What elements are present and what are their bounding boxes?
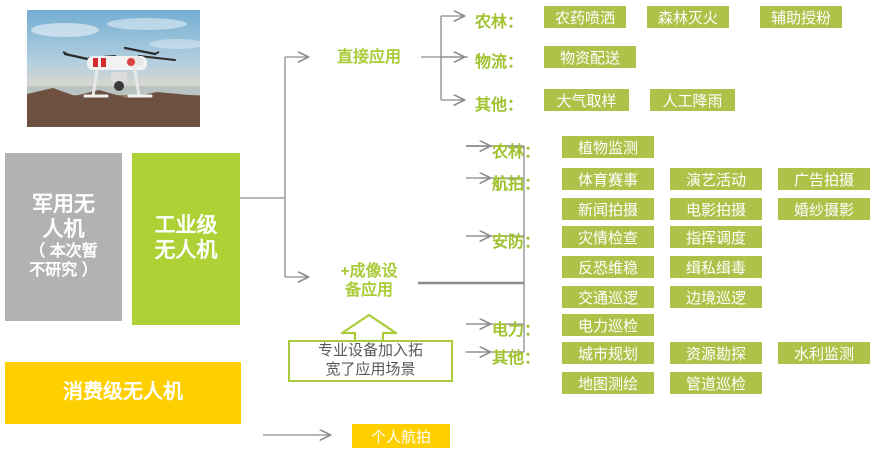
tag-imaging-4-0[interactable]: 城市规划	[562, 342, 654, 364]
callout-box: 专业设备加入拓 宽了应用场景	[288, 340, 453, 382]
cat-label-direct-1: 物流：	[475, 48, 523, 72]
tag-imaging-1-2[interactable]: 广告拍摄	[778, 168, 870, 190]
tag-imaging-4-2[interactable]: 水利监测	[778, 342, 870, 364]
diagram-canvas: 军用无 人机 （ 本次暂 不研究 ） 工业级 无人机 消费级无人机 直接应用 +…	[0, 0, 888, 461]
box-military-note2: 不研究 ）	[29, 262, 97, 281]
node-direct-label: 直接应用	[337, 49, 401, 66]
box-military-line1: 军用无	[32, 193, 95, 216]
node-imaging-application[interactable]: +成像设 备应用	[325, 262, 413, 300]
tag-imaging-0-0[interactable]: 植物监测	[562, 136, 654, 158]
cat-label-imaging-4: 其他：	[492, 344, 540, 368]
tag-imaging-2-1[interactable]: 指挥调度	[670, 226, 762, 248]
callout-up-arrow-icon	[338, 314, 400, 342]
cat-label-imaging-0: 农林：	[492, 138, 540, 162]
callout-line1: 专业设备加入拓	[318, 342, 423, 359]
drone-photo	[27, 10, 200, 127]
tag-direct-0-1[interactable]: 森林灭火	[647, 6, 729, 28]
cat-label-imaging-2: 安防：	[492, 228, 540, 252]
node-imaging-line1: +成像设	[340, 263, 397, 280]
tag-imaging-1-4[interactable]: 电影拍摄	[670, 198, 762, 220]
tag-direct-1-0[interactable]: 物资配送	[544, 46, 636, 68]
cat-label-imaging-3: 电力：	[492, 316, 540, 340]
tag-imaging-4-1[interactable]: 资源勘探	[670, 342, 762, 364]
tag-imaging-1-1[interactable]: 演艺活动	[670, 168, 762, 190]
tag-direct-2-1[interactable]: 人工降雨	[650, 89, 735, 111]
box-consumer-drone[interactable]: 消费级无人机	[5, 362, 241, 424]
box-military-drone[interactable]: 军用无 人机 （ 本次暂 不研究 ）	[5, 153, 122, 321]
tag-imaging-2-0[interactable]: 灾情检查	[562, 226, 654, 248]
tag-imaging-4-4[interactable]: 管道巡检	[670, 372, 762, 394]
tag-imaging-2-3[interactable]: 缉私缉毒	[670, 256, 762, 278]
tag-imaging-2-4[interactable]: 交通巡逻	[562, 286, 654, 308]
tag-direct-2-0[interactable]: 大气取样	[544, 89, 629, 111]
tag-imaging-2-2[interactable]: 反恐维稳	[562, 256, 654, 278]
tag-imaging-3-0[interactable]: 电力巡检	[562, 314, 654, 336]
node-imaging-line2: 备应用	[345, 282, 393, 299]
box-industrial-line1: 工业级	[155, 214, 218, 237]
cat-label-direct-2: 其他：	[475, 91, 523, 115]
node-direct-application[interactable]: 直接应用	[321, 48, 417, 67]
cat-label-imaging-1: 航拍：	[492, 170, 540, 194]
box-industrial-line2: 无人机	[155, 239, 218, 262]
tag-direct-0-0[interactable]: 农药喷洒	[544, 6, 626, 28]
box-military-line2: 人机	[42, 218, 84, 241]
box-military-note1: （ 本次暂	[29, 243, 97, 262]
box-consumer-label: 消费级无人机	[63, 381, 183, 405]
tag-imaging-1-0[interactable]: 体育赛事	[562, 168, 654, 190]
tag-imaging-1-5[interactable]: 婚纱摄影	[778, 198, 870, 220]
tag-direct-0-2[interactable]: 辅助授粉	[760, 6, 842, 28]
box-industrial-drone[interactable]: 工业级 无人机	[132, 153, 240, 325]
tag-imaging-2-5[interactable]: 边境巡逻	[670, 286, 762, 308]
tag-consumer-0[interactable]: 个人航拍	[352, 424, 450, 448]
tag-imaging-1-3[interactable]: 新闻拍摄	[562, 198, 654, 220]
tag-imaging-4-3[interactable]: 地图测绘	[562, 372, 654, 394]
callout-line2: 宽了应用场景	[325, 361, 415, 378]
cat-label-direct-0: 农林：	[475, 8, 523, 32]
